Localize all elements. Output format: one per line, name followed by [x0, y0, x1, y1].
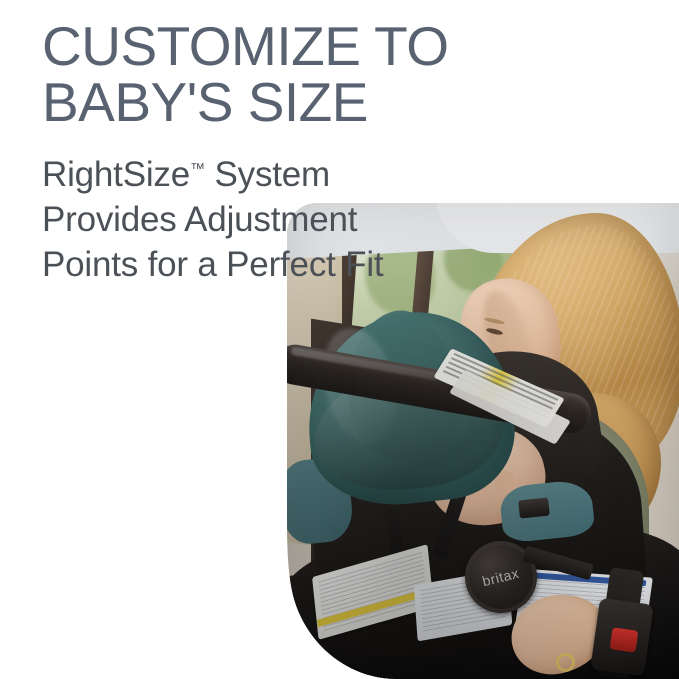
page-title: CUSTOMIZE TO BABY'S SIZE — [42, 18, 512, 130]
seatbelt-release-button — [610, 627, 639, 652]
harness-buckle — [518, 497, 550, 518]
subtitle-product-name: RightSize — [42, 155, 190, 194]
subtitle: RightSize™ System Provides Adjustment Po… — [42, 130, 402, 287]
promo-image-root: CUSTOMIZE TO BABY'S SIZE RightSize™ Syst… — [0, 0, 679, 679]
britax-logo-text: britax — [481, 565, 521, 590]
text-block: CUSTOMIZE TO BABY'S SIZE RightSize™ Syst… — [42, 18, 512, 287]
trademark-symbol: ™ — [190, 160, 205, 177]
